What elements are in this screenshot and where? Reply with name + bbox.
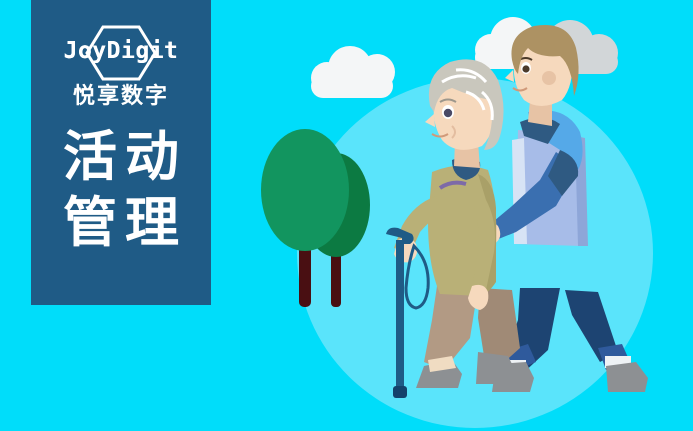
brand-block: JoyDigit 悦享数字	[46, 22, 196, 118]
poster-canvas: JoyDigit 悦享数字 活动 管理	[0, 0, 693, 431]
young-man-ear	[542, 71, 556, 85]
headline-line-2: 管理	[31, 190, 211, 256]
young-man-pupil	[522, 65, 529, 72]
brand-chinese-name: 悦享数字	[46, 82, 196, 110]
page-title: 活动 管理	[31, 124, 211, 256]
headline-line-1: 活动	[31, 124, 211, 190]
cane-tip	[393, 386, 407, 398]
elder-pupil	[444, 109, 452, 117]
brand-wordmark: JoyDigit	[46, 36, 196, 66]
title-panel: JoyDigit 悦享数字 活动 管理	[31, 0, 211, 305]
cane-shaft	[396, 240, 404, 390]
